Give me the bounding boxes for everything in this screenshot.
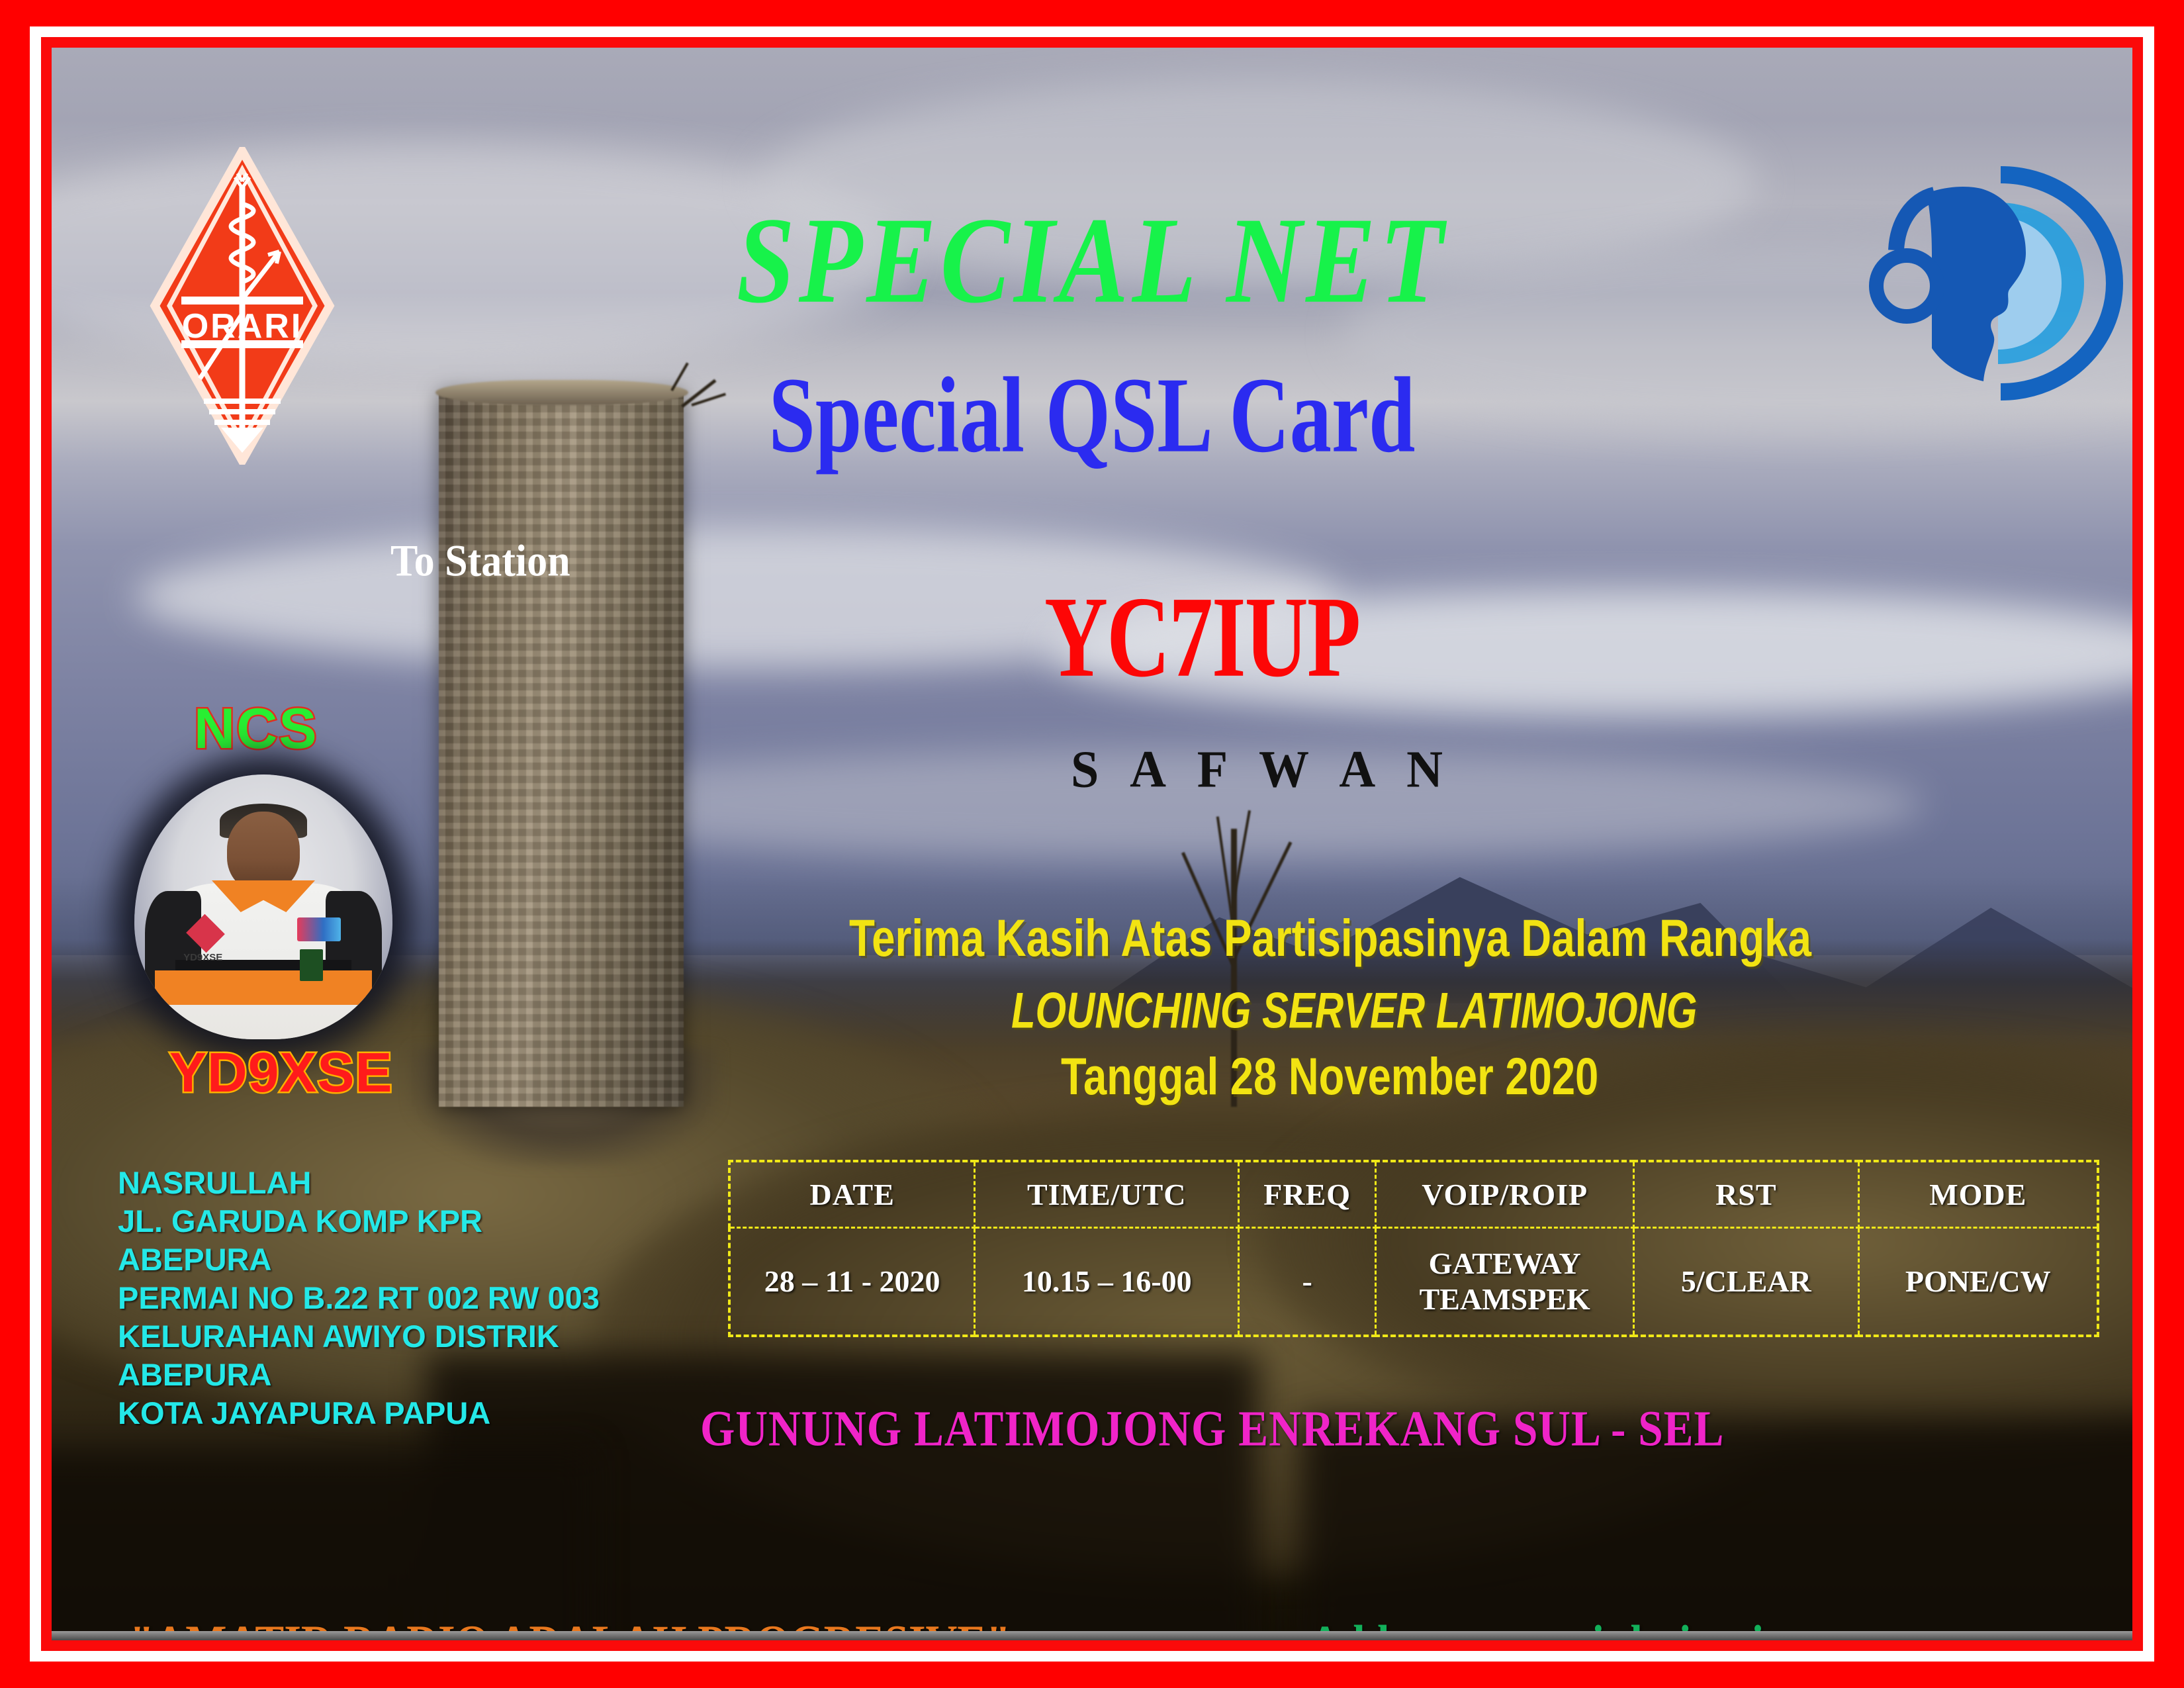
avatar-head	[227, 812, 299, 891]
operator-name: S A F W A N	[1071, 739, 1453, 800]
address-block: NASRULLAH JL. GARUDA KOMP KPR ABEPURA PE…	[118, 1164, 600, 1432]
page-subtitle: Special QSL Card	[124, 353, 2060, 477]
address-line: KELURAHAN AWIYO DISTRIK	[118, 1317, 600, 1356]
thanks-line-2: LOUNCHING SERVER LATIMOJONG	[1011, 982, 1697, 1039]
th-date: DATE	[729, 1161, 975, 1228]
address-line: NASRULLAH	[118, 1164, 600, 1202]
thanks-line-1: Terima Kasih Atas Partisipasinya Dalam R…	[849, 908, 1811, 968]
qso-log-table: DATE TIME/UTC FREQ VOIP/ROIP RST MODE 28…	[728, 1160, 2099, 1337]
address-line: ABEPURA	[118, 1241, 600, 1279]
td-date: 28 – 11 - 2020	[729, 1228, 975, 1336]
td-voip-line1: GATEWAY	[1377, 1246, 1632, 1282]
address-line: KOTA JAYAPURA PAPUA	[118, 1394, 600, 1432]
thanks-line-3: Tanggal 28 November 2020	[1061, 1046, 1598, 1106]
qsl-card: ORARI SPECIAL NET Special QSL Card To St…	[0, 0, 2184, 1688]
th-rst: RST	[1634, 1161, 1858, 1228]
card-photo-background: ORARI SPECIAL NET Special QSL Card To St…	[52, 48, 2132, 1640]
page-title: SPECIAL NET	[52, 190, 2132, 332]
location-line: GUNUNG LATIMOJONG ENREKANG SUL - SEL	[700, 1399, 1724, 1458]
td-voip-line2: TEAMSPEK	[1377, 1282, 1632, 1317]
th-mode: MODE	[1858, 1161, 2098, 1228]
td-rst: 5/CLEAR	[1634, 1228, 1858, 1336]
ncs-callsign: YD9XSE	[169, 1041, 393, 1105]
stone-pillar	[439, 392, 684, 1107]
td-freq: -	[1239, 1228, 1376, 1336]
address-line: ABEPURA	[118, 1356, 600, 1394]
ncs-label: NCS	[194, 696, 318, 762]
to-station-label: To Station	[390, 536, 570, 587]
td-mode: PONE/CW	[1858, 1228, 2098, 1336]
footer-strip	[52, 1631, 2132, 1640]
ncs-operator-avatar: YD9XSE	[134, 774, 392, 1039]
address-line: JL. GARUDA KOMP KPR	[118, 1202, 600, 1241]
avatar-id-badge	[300, 949, 323, 981]
td-time: 10.15 – 16-00	[975, 1228, 1239, 1336]
td-voip: GATEWAY TEAMSPEK	[1376, 1228, 1634, 1336]
avatar-shirt-callsign: YD9XSE	[183, 952, 222, 963]
table-row: 28 – 11 - 2020 10.15 – 16-00 - GATEWAY T…	[729, 1228, 2098, 1336]
station-callsign: YC7IUP	[1044, 571, 1359, 704]
dark-rock	[52, 1449, 592, 1640]
avatar-sash	[155, 970, 372, 1005]
th-voip: VOIP/ROIP	[1376, 1161, 1634, 1228]
th-time: TIME/UTC	[975, 1161, 1239, 1228]
th-freq: FREQ	[1239, 1161, 1376, 1228]
address-line: PERMAI NO B.22 RT 002 RW 003	[118, 1279, 600, 1317]
table-header-row: DATE TIME/UTC FREQ VOIP/ROIP RST MODE	[729, 1161, 2098, 1228]
avatar-patch-right	[297, 917, 341, 941]
